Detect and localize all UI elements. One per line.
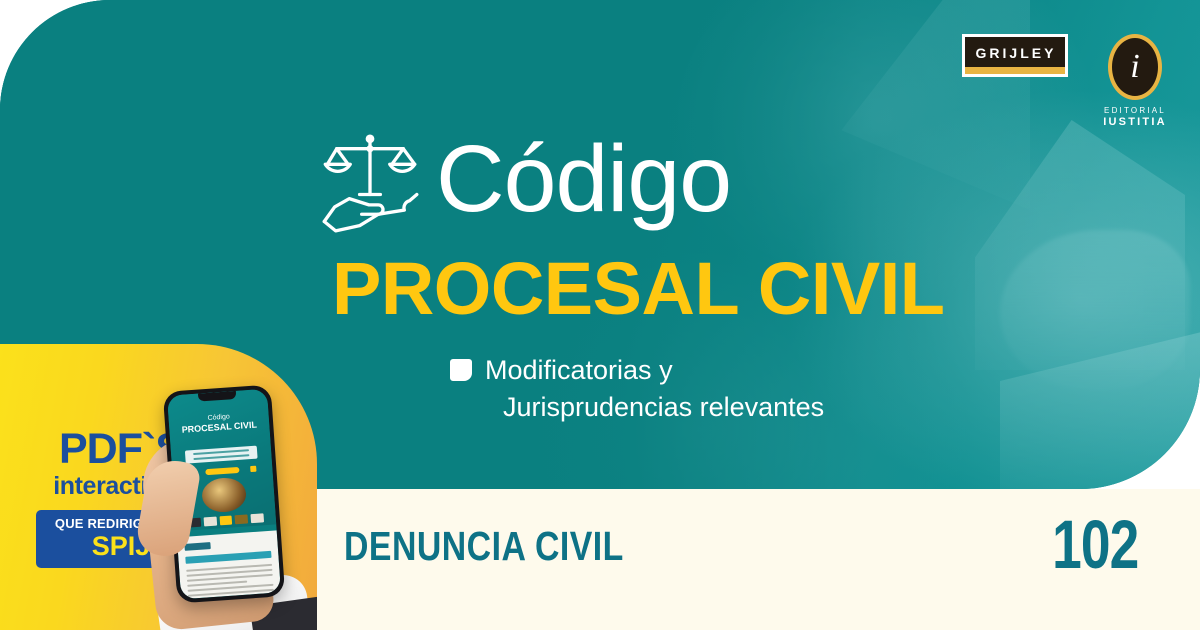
page-subtitle: PROCESAL CIVIL xyxy=(332,252,978,326)
banner-root: GRIJLEY i EDITORIAL IUSTITIA xyxy=(0,0,1200,630)
page-title: Código xyxy=(436,132,731,233)
phone-doc-highlight-bar xyxy=(185,551,271,564)
tagline: Modificatorias y Jurisprudencias relevan… xyxy=(450,352,978,426)
grijley-wordmark: GRIJLEY xyxy=(965,37,1065,67)
phone-icon-2 xyxy=(203,517,216,527)
footer-topic-title: DENUNCIA CIVIL xyxy=(344,523,624,570)
title-main-row: Código xyxy=(318,128,978,236)
grijley-logo[interactable]: GRIJLEY xyxy=(962,34,1068,77)
tagline-line-2: Jurisprudencias relevantes xyxy=(485,389,824,426)
title-block: Código PROCESAL CIVIL Modificatorias y J… xyxy=(318,128,978,426)
phone-icon-3 xyxy=(219,516,232,526)
scales-of-justice-in-hand-icon xyxy=(318,130,422,234)
iustitia-logo[interactable]: i EDITORIAL IUSTITIA xyxy=(1096,34,1174,130)
bookmark-square-icon xyxy=(450,359,472,381)
footer-page-number: 102 xyxy=(1052,506,1138,584)
grijley-gold-bar xyxy=(965,67,1065,74)
phone-screen-bottom xyxy=(177,530,281,599)
phone-doc-text-lines xyxy=(186,564,275,599)
phone-icon-4 xyxy=(235,514,248,524)
tagline-lines: Modificatorias y Jurisprudencias relevan… xyxy=(485,352,824,426)
tagline-line-1: Modificatorias y xyxy=(485,352,824,389)
iustitia-line-1: EDITORIAL xyxy=(1096,106,1174,116)
phone-doc-heading xyxy=(184,542,210,551)
pdf-promo-panel[interactable]: PDF`S interactivos QUE REDIRIGEN AL: SPI… xyxy=(0,344,317,630)
iustitia-line-2: IUSTITIA xyxy=(1096,116,1174,130)
hand-holding-phone: Código PROCESAL CIVIL xyxy=(130,364,317,630)
phone-icon-5 xyxy=(251,513,264,523)
iustitia-seal-icon: i xyxy=(1108,34,1162,100)
publisher-logos: GRIJLEY i EDITORIAL IUSTITIA xyxy=(962,34,1174,130)
phone-chip-right xyxy=(250,466,256,472)
